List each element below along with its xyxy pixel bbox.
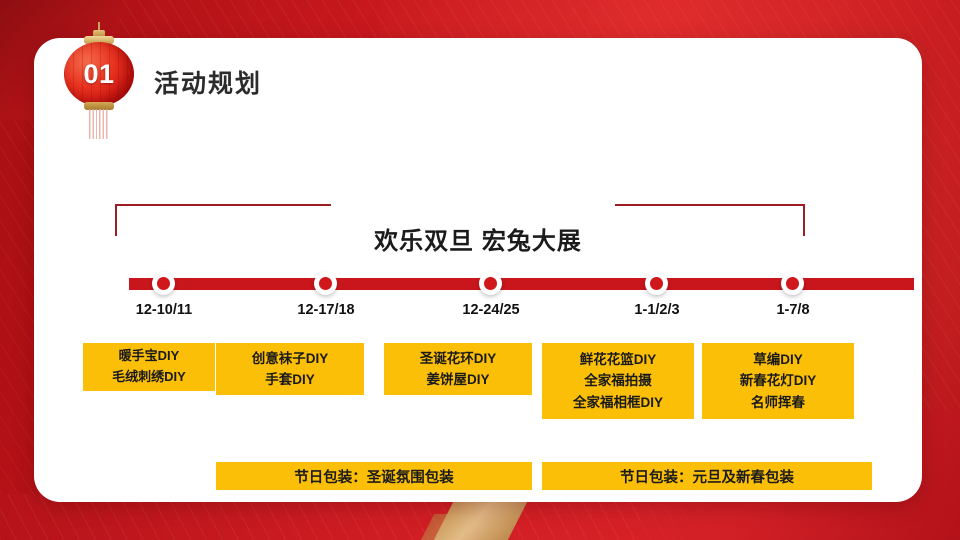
timeline-date: 1-1/2/3 <box>586 302 728 318</box>
packaging-bar-newyear[interactable]: 节日包装：元旦及新春包装 <box>542 462 872 490</box>
bracket-line-right <box>615 204 805 206</box>
content-card: 01 活动规划 欢乐双旦 宏兔大展 12-10/11 红兔送暖 12-17/18… <box>34 38 922 502</box>
page-title: 活动规划 <box>154 64 262 100</box>
activity-box[interactable]: 圣诞花环DIY 姜饼屋DIY <box>384 343 532 395</box>
activity-box[interactable]: 鲜花花篮DIY 全家福拍摄 全家福相框DIY <box>542 343 694 419</box>
activity-item: 暖手宝DIY <box>119 346 180 367</box>
section-title: 欢乐双旦 宏兔大展 <box>34 221 922 256</box>
activity-item: 姜饼屋DIY <box>426 369 489 390</box>
activity-item: 手套DIY <box>265 369 315 390</box>
section-number: 01 <box>64 42 134 106</box>
timeline-date: 1-7/8 <box>722 302 864 318</box>
activity-item: 新春花灯DIY <box>740 370 817 391</box>
timeline-dot[interactable] <box>781 272 804 295</box>
activity-item: 创意袜子DIY <box>252 348 329 369</box>
packaging-bar-christmas[interactable]: 节日包装：圣诞氛围包装 <box>216 462 532 490</box>
activity-box[interactable]: 草编DIY 新春花灯DIY 名师挥春 <box>702 343 854 419</box>
timeline-date: 12-10/11 <box>93 302 235 318</box>
timeline-dot[interactable] <box>152 272 175 295</box>
activity-item: 全家福拍摄 <box>584 370 652 391</box>
timeline-dot[interactable] <box>645 272 668 295</box>
lantern-tassel-icon <box>89 109 109 139</box>
activity-item: 全家福相框DIY <box>573 392 663 413</box>
lantern-icon: 01 <box>60 28 138 148</box>
timeline-date: 12-17/18 <box>255 302 397 318</box>
timeline-dot[interactable] <box>314 272 337 295</box>
activity-box[interactable]: 暖手宝DIY 毛绒刺绣DIY <box>83 343 215 391</box>
activity-item: 毛绒刺绣DIY <box>112 367 186 388</box>
timeline-date: 12-24/25 <box>420 302 562 318</box>
header: 01 活动规划 <box>34 38 922 138</box>
activity-item: 圣诞花环DIY <box>420 348 497 369</box>
activity-item: 草编DIY <box>753 349 803 370</box>
slide: 01 活动规划 欢乐双旦 宏兔大展 12-10/11 红兔送暖 12-17/18… <box>0 0 960 540</box>
activity-item: 鲜花花篮DIY <box>580 349 657 370</box>
activity-box[interactable]: 创意袜子DIY 手套DIY <box>216 343 364 395</box>
activity-item: 名师挥春 <box>751 392 805 413</box>
timeline-dot[interactable] <box>479 272 502 295</box>
bracket-line-left <box>115 204 331 206</box>
